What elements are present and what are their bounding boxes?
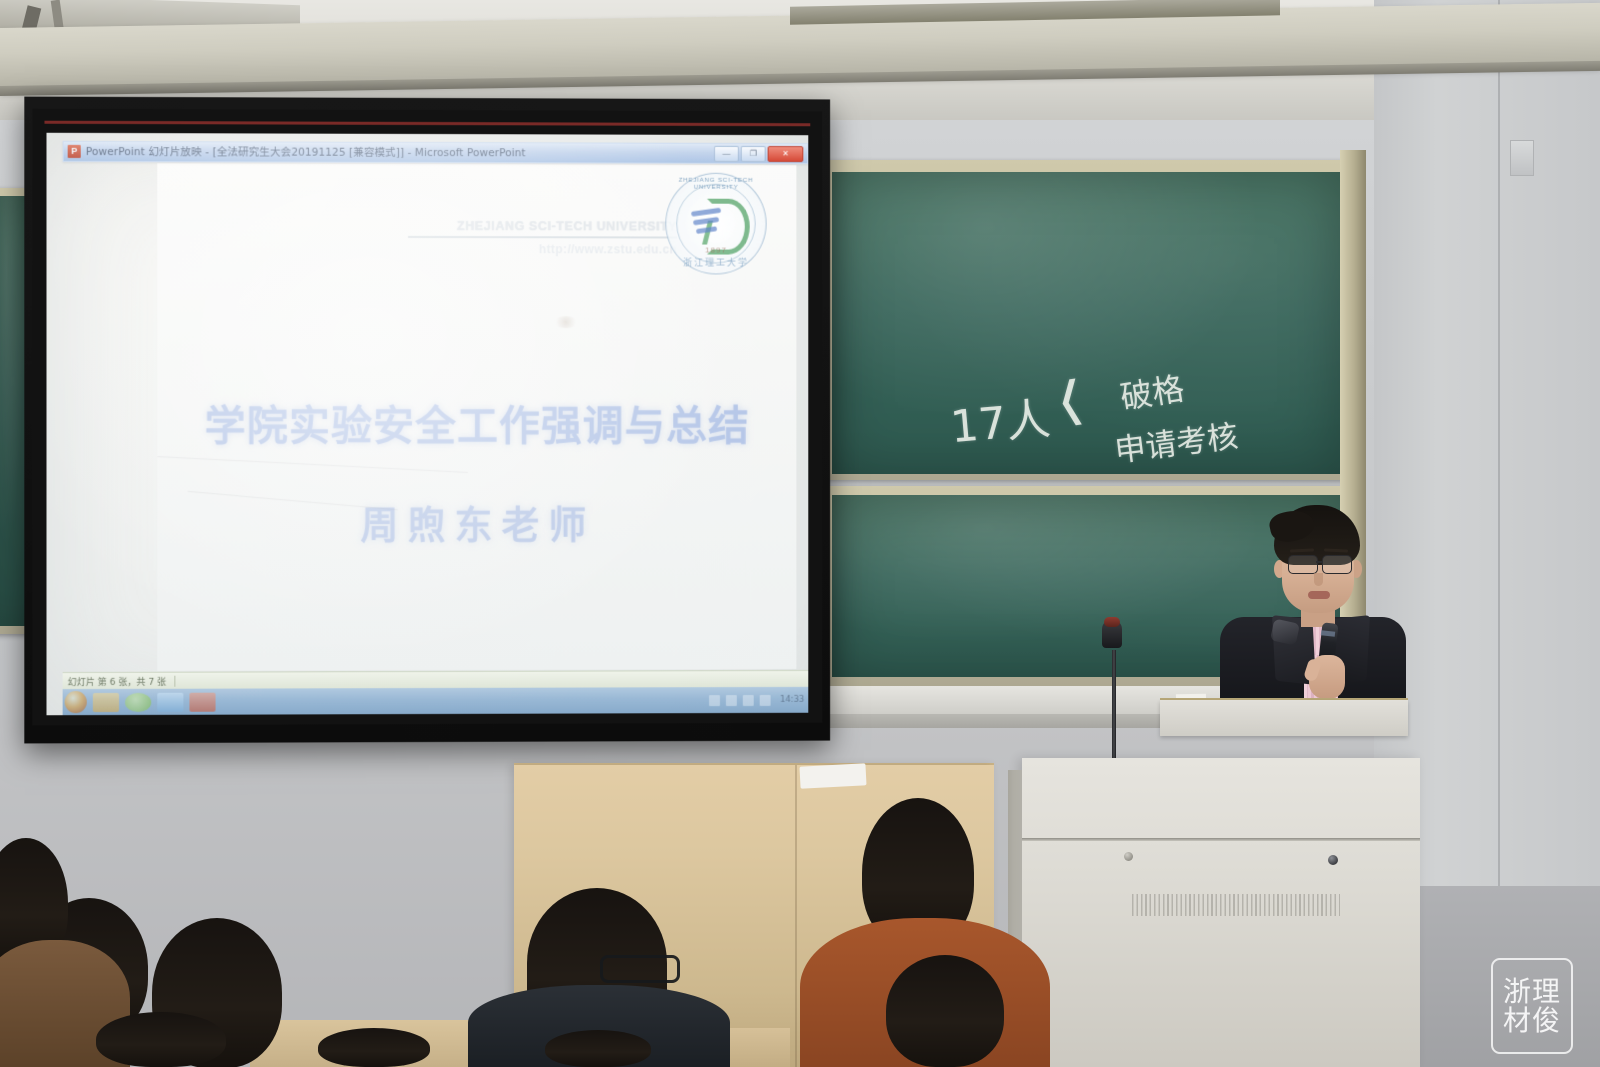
logo-year: 1897 [665, 245, 766, 254]
cabinet-paper [799, 763, 866, 788]
university-logo: ZHEJIANG SCI-TECH UNIVERSITY 1897 浙江理工大学 [665, 173, 766, 275]
logo-english-text: ZHEJIANG SCI-TECH UNIVERSITY [665, 177, 766, 191]
chalk-note-pogge: 破格 [1117, 363, 1187, 418]
screen-crease [157, 456, 467, 473]
cabinet-seam [795, 765, 797, 1067]
lecture-hall-photo: 17人 ⟨ 破格 申请考核 ZHEJIANG SCI-TECH UNIVERSI… [0, 0, 1600, 1067]
podium-vent-grille [1132, 894, 1340, 916]
presenter-nose [1314, 573, 1323, 586]
microphone-stand [1112, 650, 1116, 760]
action-center-icon[interactable] [759, 694, 770, 705]
slide-header: ZHEJIANG SCI-TECH UNIVERSITY http://www.… [408, 219, 677, 256]
logo-emblem-icon [691, 199, 741, 247]
taskbar-media-icon[interactable] [157, 692, 183, 711]
microphone-windscreen [1104, 617, 1120, 627]
network-icon[interactable] [725, 695, 736, 706]
slide-canvas: ZHEJIANG SCI-TECH UNIVERSITY http://www.… [157, 163, 796, 671]
presenter [1212, 505, 1412, 717]
podium-knob-left[interactable] [1124, 852, 1133, 861]
powerpoint-titlebar[interactable]: P PowerPoint 幻灯片放映 - [全法研究生大会20191125 [兼… [63, 141, 809, 164]
slide-header-rule [408, 236, 677, 239]
projection-screen: ZHEJIANG SCI-TECH UNIVERSITY http://www.… [24, 97, 830, 744]
audience-head [96, 1012, 226, 1067]
chalk-note-apply: 申请考核 [1112, 411, 1241, 471]
watermark-line-2: 材俊 [1503, 1006, 1561, 1035]
podium-knob-right[interactable] [1328, 855, 1338, 865]
taskbar-powerpoint-icon[interactable] [189, 692, 215, 711]
taskbar-folder-icon[interactable] [93, 692, 119, 711]
presenter-mouth [1308, 591, 1330, 599]
powerpoint-icon: P [68, 145, 81, 158]
audience-head [545, 1030, 651, 1067]
window-title: PowerPoint 幻灯片放映 - [全法研究生大会20191125 [兼容模… [86, 144, 526, 160]
volume-icon[interactable] [742, 695, 753, 706]
window-controls[interactable]: — ❐ ✕ [714, 146, 803, 162]
glasses-lens-left [1288, 555, 1318, 574]
chalk-bracket: ⟨ [1052, 370, 1088, 433]
photographer-watermark: 浙理 材俊 [1491, 958, 1573, 1054]
screen-smudge [553, 316, 579, 328]
podium-seam [1022, 838, 1420, 841]
taskbar-clock[interactable]: 14:33 [780, 695, 804, 705]
wall-seam [1498, 0, 1500, 900]
close-button[interactable]: ✕ [768, 146, 804, 162]
slide-subtitle: 周煦东老师 [157, 494, 796, 550]
taskbar-browser-icon[interactable] [125, 692, 151, 711]
logo-chinese-text: 浙江理工大学 [665, 255, 766, 268]
glasses-bridge [1316, 561, 1323, 563]
wall-vent [1510, 140, 1534, 176]
minimize-button[interactable]: — [714, 146, 739, 162]
chalkboard-upper: 17人 ⟨ 破格 申请考核 [832, 172, 1340, 474]
system-tray[interactable]: 14:33 [709, 694, 805, 705]
chalk-note-count: 17人 [947, 383, 1052, 455]
glasses-lens-right [1322, 555, 1352, 574]
slide-header-english: ZHEJIANG SCI-TECH UNIVERSITY [408, 219, 677, 234]
slide-counter: 幻灯片 第 6 张，共 7 张 [68, 674, 166, 687]
status-separator [174, 675, 175, 686]
start-button-icon[interactable] [65, 691, 87, 713]
ime-icon[interactable] [709, 695, 720, 706]
slide-header-url: http://www.zstu.edu.cn [408, 242, 677, 256]
audience-head [886, 955, 1004, 1067]
windows-taskbar[interactable]: 14:33 [63, 687, 809, 715]
projected-image: ZHEJIANG SCI-TECH UNIVERSITY http://www.… [46, 133, 808, 715]
watermark-line-1: 浙理 [1503, 977, 1561, 1006]
audience-head [318, 1028, 430, 1067]
audience-glasses [600, 955, 680, 983]
slide-title: 学院实验安全工作强调与总结 [157, 392, 796, 452]
maximize-button[interactable]: ❐ [741, 146, 766, 162]
podium-top [1160, 700, 1408, 736]
